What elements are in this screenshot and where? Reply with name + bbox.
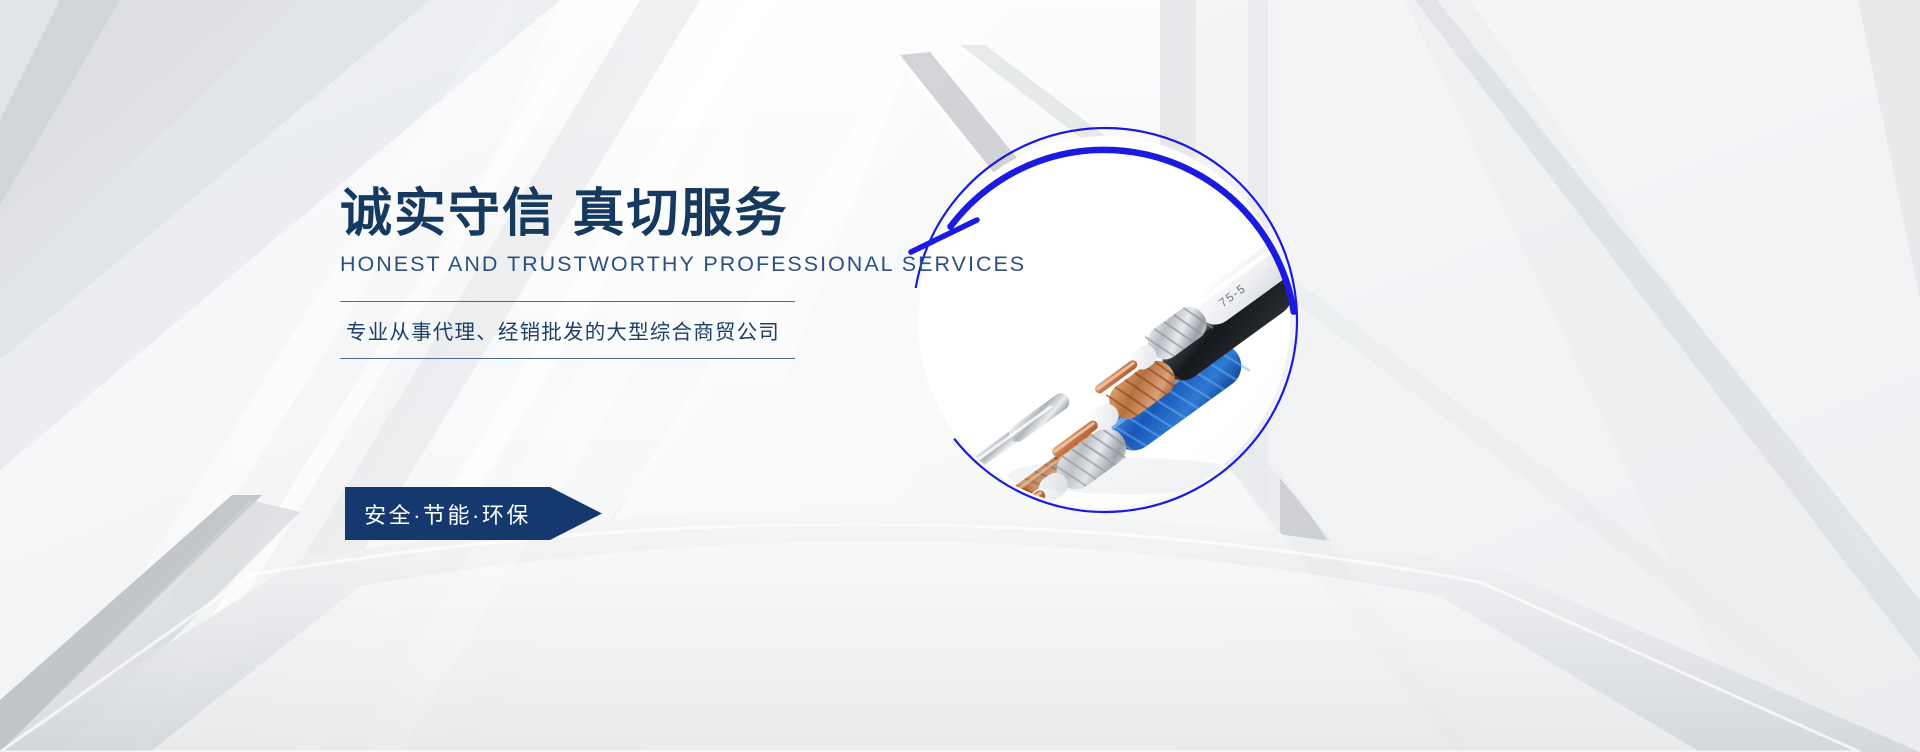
subtitle-english: HONEST AND TRUSTWORTHY PROFESSIONAL SERV… xyxy=(340,252,900,277)
divider-top xyxy=(340,301,795,302)
divider-bottom xyxy=(340,358,795,359)
product-circle: 75-5 xyxy=(905,120,1305,520)
tagline-block: 专业从事代理、经销批发的大型综合商贸公司 xyxy=(340,301,795,359)
feature-badge[interactable]: 安全·节能·环保 xyxy=(345,487,602,540)
hero-banner: 75-5 xyxy=(0,0,1920,752)
page-title: 诚实守信 真切服务 xyxy=(340,186,900,242)
badge-label: 安全·节能·环保 xyxy=(345,487,550,540)
tagline-text: 专业从事代理、经销批发的大型综合商贸公司 xyxy=(340,302,795,358)
banner-copy: 诚实守信 真切服务 HONEST AND TRUSTWORTHY PROFESS… xyxy=(340,186,900,359)
blue-ring-svg xyxy=(905,120,1305,520)
